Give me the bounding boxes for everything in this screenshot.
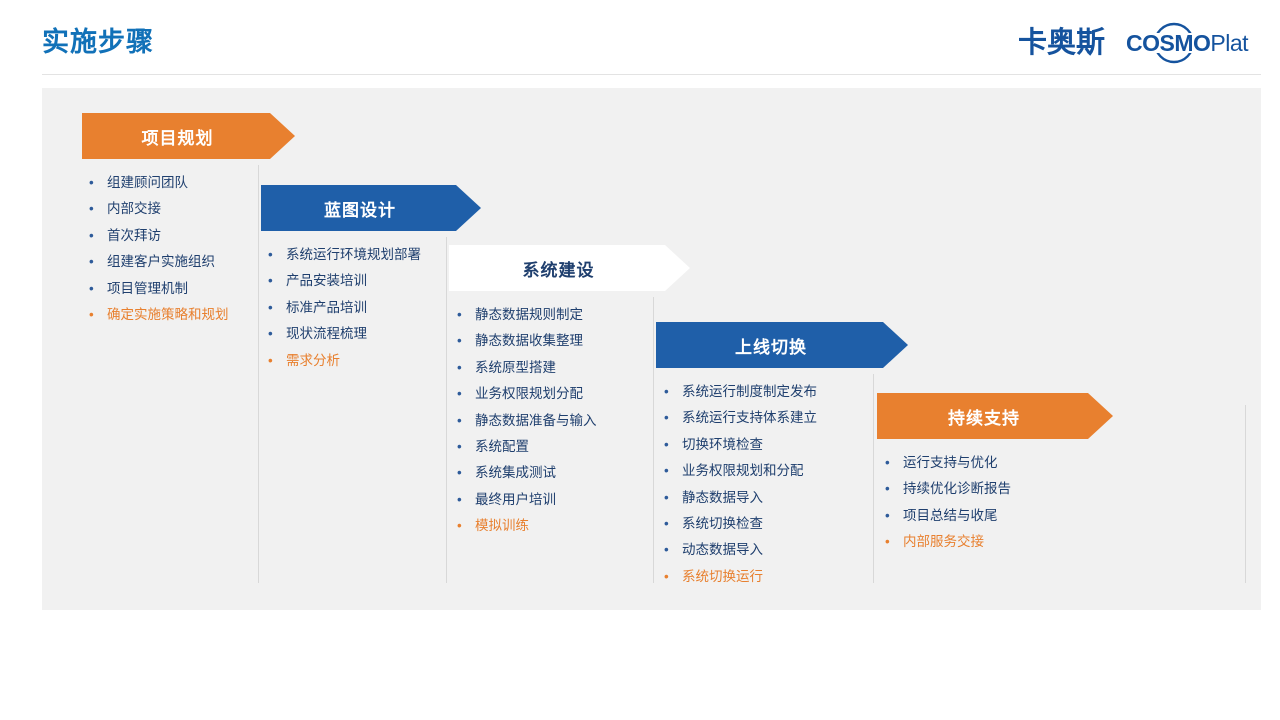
- list-item-label: 系统配置: [475, 439, 529, 454]
- brand-name-en: COSMOPlat: [1126, 31, 1248, 55]
- list-item: •系统集成测试: [456, 460, 652, 486]
- list-item-label: 系统原型搭建: [475, 360, 556, 375]
- list-item-label: 组建客户实施组织: [107, 254, 215, 269]
- bullet-icon: •: [664, 432, 669, 458]
- stage-list-5: •运行支持与优化 •持续优化诊断报告 •项目总结与收尾 •内部服务交接: [884, 450, 1084, 556]
- list-item-label: 切换环境检查: [682, 437, 763, 452]
- bullet-icon: •: [885, 450, 890, 476]
- bullet-icon: •: [664, 511, 669, 537]
- bullet-icon: •: [89, 223, 94, 249]
- list-item-label: 系统集成测试: [475, 465, 556, 480]
- list-item-label: 系统运行环境规划部署: [286, 247, 421, 262]
- stage-list-1: •组建顾问团队 •内部交接 •首次拜访 •组建客户实施组织 •项目管理机制 •确…: [88, 170, 258, 328]
- stage-divider-5: [1245, 405, 1246, 583]
- list-item: •动态数据导入: [663, 537, 871, 563]
- list-item-label: 系统运行支持体系建立: [682, 410, 817, 425]
- list-item: •静态数据导入: [663, 485, 871, 511]
- implementation-steps-panel: 项目规划 •组建顾问团队 •内部交接 •首次拜访 •组建客户实施组织 •项目管理…: [42, 88, 1261, 610]
- stage-list-3: •静态数据规则制定 •静态数据收集整理 •系统原型搭建 •业务权限规划分配 •静…: [456, 302, 652, 540]
- stage-divider-2: [446, 237, 447, 583]
- list-item: •系统配置: [456, 434, 652, 460]
- stage-header-2[interactable]: 蓝图设计: [261, 185, 481, 231]
- list-item: •切换环境检查: [663, 432, 871, 458]
- stage-header-1[interactable]: 项目规划: [82, 113, 295, 159]
- list-item: •组建顾问团队: [88, 170, 258, 196]
- bullet-icon: •: [664, 458, 669, 484]
- list-item-label: 内部服务交接: [903, 534, 984, 549]
- bullet-icon: •: [664, 405, 669, 431]
- bullet-icon: •: [268, 295, 273, 321]
- list-item: •需求分析: [267, 348, 445, 374]
- stage-header-4[interactable]: 上线切换: [656, 322, 908, 368]
- cosmoplat-logo-mark: COSMOPlat: [1114, 22, 1264, 64]
- bullet-icon: •: [885, 476, 890, 502]
- list-item-label: 动态数据导入: [682, 542, 763, 557]
- list-item-label: 项目管理机制: [107, 281, 188, 296]
- list-item: •产品安装培训: [267, 268, 445, 294]
- list-item: •静态数据规则制定: [456, 302, 652, 328]
- list-item: •内部交接: [88, 196, 258, 222]
- bullet-icon: •: [457, 381, 462, 407]
- list-item: •系统原型搭建: [456, 355, 652, 381]
- list-item: •最终用户培训: [456, 487, 652, 513]
- list-item-label: 静态数据准备与输入: [475, 413, 597, 428]
- stage-header-3[interactable]: 系统建设: [449, 245, 690, 291]
- brand-logo: 卡奥斯 COSMOPlat: [1018, 22, 1264, 64]
- bullet-icon: •: [457, 328, 462, 354]
- bullet-icon: •: [89, 276, 94, 302]
- list-item: •标准产品培训: [267, 295, 445, 321]
- list-item-label: 组建顾问团队: [107, 175, 188, 190]
- list-item-label: 系统切换检查: [682, 516, 763, 531]
- list-item-label: 内部交接: [107, 201, 161, 216]
- bullet-icon: •: [885, 529, 890, 555]
- bullet-icon: •: [457, 460, 462, 486]
- page-title: 实施步骤: [42, 22, 154, 62]
- stage-title-3: 系统建设: [523, 256, 595, 281]
- bullet-icon: •: [268, 321, 273, 347]
- list-item: •运行支持与优化: [884, 450, 1084, 476]
- list-item-label: 运行支持与优化: [903, 455, 998, 470]
- list-item: •系统运行环境规划部署: [267, 242, 445, 268]
- list-item: •业务权限规划分配: [456, 381, 652, 407]
- bullet-icon: •: [89, 196, 94, 222]
- list-item: •系统切换检查: [663, 511, 871, 537]
- list-item: •系统运行支持体系建立: [663, 405, 871, 431]
- stage-header-5[interactable]: 持续支持: [877, 393, 1113, 439]
- bullet-icon: •: [885, 503, 890, 529]
- bullet-icon: •: [457, 487, 462, 513]
- list-item: •持续优化诊断报告: [884, 476, 1084, 502]
- slide-canvas: 实施步骤 卡奥斯 COSMOPlat 项目规划 •组建顾问团队 •内部交接 •首…: [0, 0, 1280, 720]
- list-item-label: 产品安装培训: [286, 273, 367, 288]
- bullet-icon: •: [457, 513, 462, 539]
- bullet-icon: •: [268, 242, 273, 268]
- bullet-icon: •: [457, 408, 462, 434]
- list-item-label: 静态数据规则制定: [475, 307, 583, 322]
- bullet-icon: •: [89, 170, 94, 196]
- bullet-icon: •: [89, 302, 94, 328]
- list-item-label: 标准产品培训: [286, 300, 367, 315]
- bullet-icon: •: [268, 348, 273, 374]
- list-item-label: 最终用户培训: [475, 492, 556, 507]
- brand-en-thin: Plat: [1210, 30, 1248, 56]
- stage-list-2: •系统运行环境规划部署 •产品安装培训 •标准产品培训 •现状流程梳理 •需求分…: [267, 242, 445, 374]
- list-item-label: 静态数据导入: [682, 490, 763, 505]
- list-item: •模拟训练: [456, 513, 652, 539]
- list-item: •确定实施策略和规划: [88, 302, 258, 328]
- brand-en-bold: COSMO: [1126, 30, 1210, 56]
- bullet-icon: •: [664, 564, 669, 590]
- title-divider: [42, 74, 1261, 75]
- list-item: •首次拜访: [88, 223, 258, 249]
- list-item-label: 持续优化诊断报告: [903, 481, 1011, 496]
- list-item-label: 需求分析: [286, 353, 340, 368]
- list-item-label: 业务权限规划分配: [475, 386, 583, 401]
- list-item-label: 系统切换运行: [682, 569, 763, 584]
- list-item-label: 静态数据收集整理: [475, 333, 583, 348]
- stage-divider-1: [258, 165, 259, 583]
- list-item-label: 项目总结与收尾: [903, 508, 998, 523]
- bullet-icon: •: [457, 355, 462, 381]
- bullet-icon: •: [268, 268, 273, 294]
- list-item-label: 确定实施策略和规划: [107, 307, 229, 322]
- bullet-icon: •: [89, 249, 94, 275]
- stage-title-1: 项目规划: [142, 124, 214, 149]
- stage-divider-4: [873, 374, 874, 583]
- list-item: •静态数据收集整理: [456, 328, 652, 354]
- list-item-label: 模拟训练: [475, 518, 529, 533]
- list-item: •项目管理机制: [88, 276, 258, 302]
- bullet-icon: •: [457, 302, 462, 328]
- list-item: •业务权限规划和分配: [663, 458, 871, 484]
- list-item: •系统切换运行: [663, 564, 871, 590]
- list-item-label: 首次拜访: [107, 228, 161, 243]
- list-item: •系统运行制度制定发布: [663, 379, 871, 405]
- bullet-icon: •: [457, 434, 462, 460]
- list-item-label: 现状流程梳理: [286, 326, 367, 341]
- stage-list-4: •系统运行制度制定发布 •系统运行支持体系建立 •切换环境检查 •业务权限规划和…: [663, 379, 871, 590]
- list-item: •静态数据准备与输入: [456, 408, 652, 434]
- brand-name-cn: 卡奥斯: [1018, 26, 1105, 60]
- stage-title-5: 持续支持: [948, 404, 1020, 429]
- list-item: •项目总结与收尾: [884, 503, 1084, 529]
- bullet-icon: •: [664, 485, 669, 511]
- list-item: •组建客户实施组织: [88, 249, 258, 275]
- stage-title-2: 蓝图设计: [324, 196, 396, 221]
- bullet-icon: •: [664, 379, 669, 405]
- list-item-label: 业务权限规划和分配: [682, 463, 804, 478]
- bullet-icon: •: [664, 537, 669, 563]
- list-item-label: 系统运行制度制定发布: [682, 384, 817, 399]
- stage-divider-3: [653, 297, 654, 583]
- list-item: •内部服务交接: [884, 529, 1084, 555]
- list-item: •现状流程梳理: [267, 321, 445, 347]
- stage-title-4: 上线切换: [735, 333, 807, 358]
